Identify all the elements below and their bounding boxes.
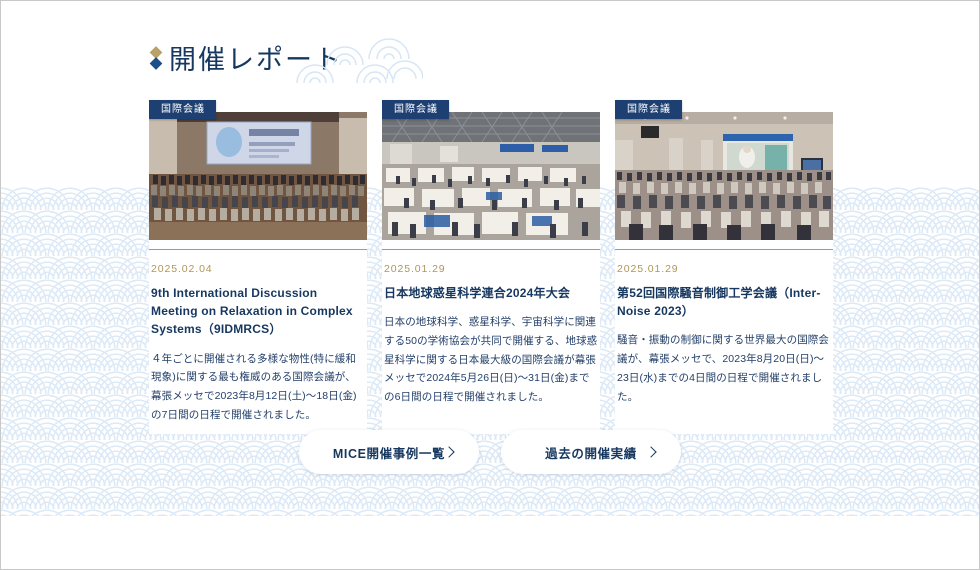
report-card[interactable]: 国際会議 — [149, 98, 367, 434]
card-date: 2025.01.29 — [384, 263, 598, 275]
card-media: 国際会議 — [149, 98, 367, 240]
card-title: 日本地球惑星科学連合2024年大会 — [384, 284, 598, 302]
status-badge: 国際会議 — [149, 100, 216, 119]
diamond-marker-icon — [149, 45, 162, 75]
card-media: 国際会議 — [615, 98, 833, 240]
card-description: ４年ごとに開催される多様な物性(特に緩和現象)に関する最も権威のある国際会議が、… — [151, 350, 365, 425]
card-title: 9th International Discussion Meeting on … — [151, 284, 365, 339]
report-card-list: 国際会議 — [149, 98, 833, 434]
card-media: 国際会議 — [382, 98, 600, 240]
card-title: 第52回国際騒音制御工学会議（Inter-Noise 2023） — [617, 284, 831, 320]
card-photo — [149, 112, 367, 240]
card-description: 日本の地球科学、惑星科学、宇宙科学に関連する50の学術協会が共同で開催する、地球… — [384, 313, 598, 406]
report-card[interactable]: 国際会議 — [382, 98, 600, 434]
card-photo — [382, 112, 600, 240]
past-events-button[interactable]: 過去の開催実績 — [501, 430, 681, 474]
card-date: 2025.01.29 — [617, 263, 831, 275]
status-badge: 国際会議 — [382, 100, 449, 119]
mice-case-list-button[interactable]: MICE開催事例一覧 — [299, 430, 479, 474]
mice-case-list-label: MICE開催事例一覧 — [333, 443, 445, 462]
section-header: 開催レポート — [149, 45, 343, 91]
chevron-right-icon — [645, 446, 656, 457]
past-events-label: 過去の開催実績 — [545, 443, 637, 462]
card-photo — [615, 112, 833, 240]
card-date: 2025.02.04 — [151, 263, 365, 275]
page-root: 開催レポート 国際会議 — [0, 0, 980, 570]
page-title: 開催レポート — [169, 47, 343, 74]
cta-button-row: MICE開催事例一覧 過去の開催実績 — [1, 430, 979, 474]
card-description: 騒音・振動の制御に関する世界最大の国際会議が、幕張メッセで、2023年8月20日… — [617, 331, 831, 406]
status-badge: 国際会議 — [615, 100, 682, 119]
report-card[interactable]: 国際会議 — [615, 98, 833, 434]
